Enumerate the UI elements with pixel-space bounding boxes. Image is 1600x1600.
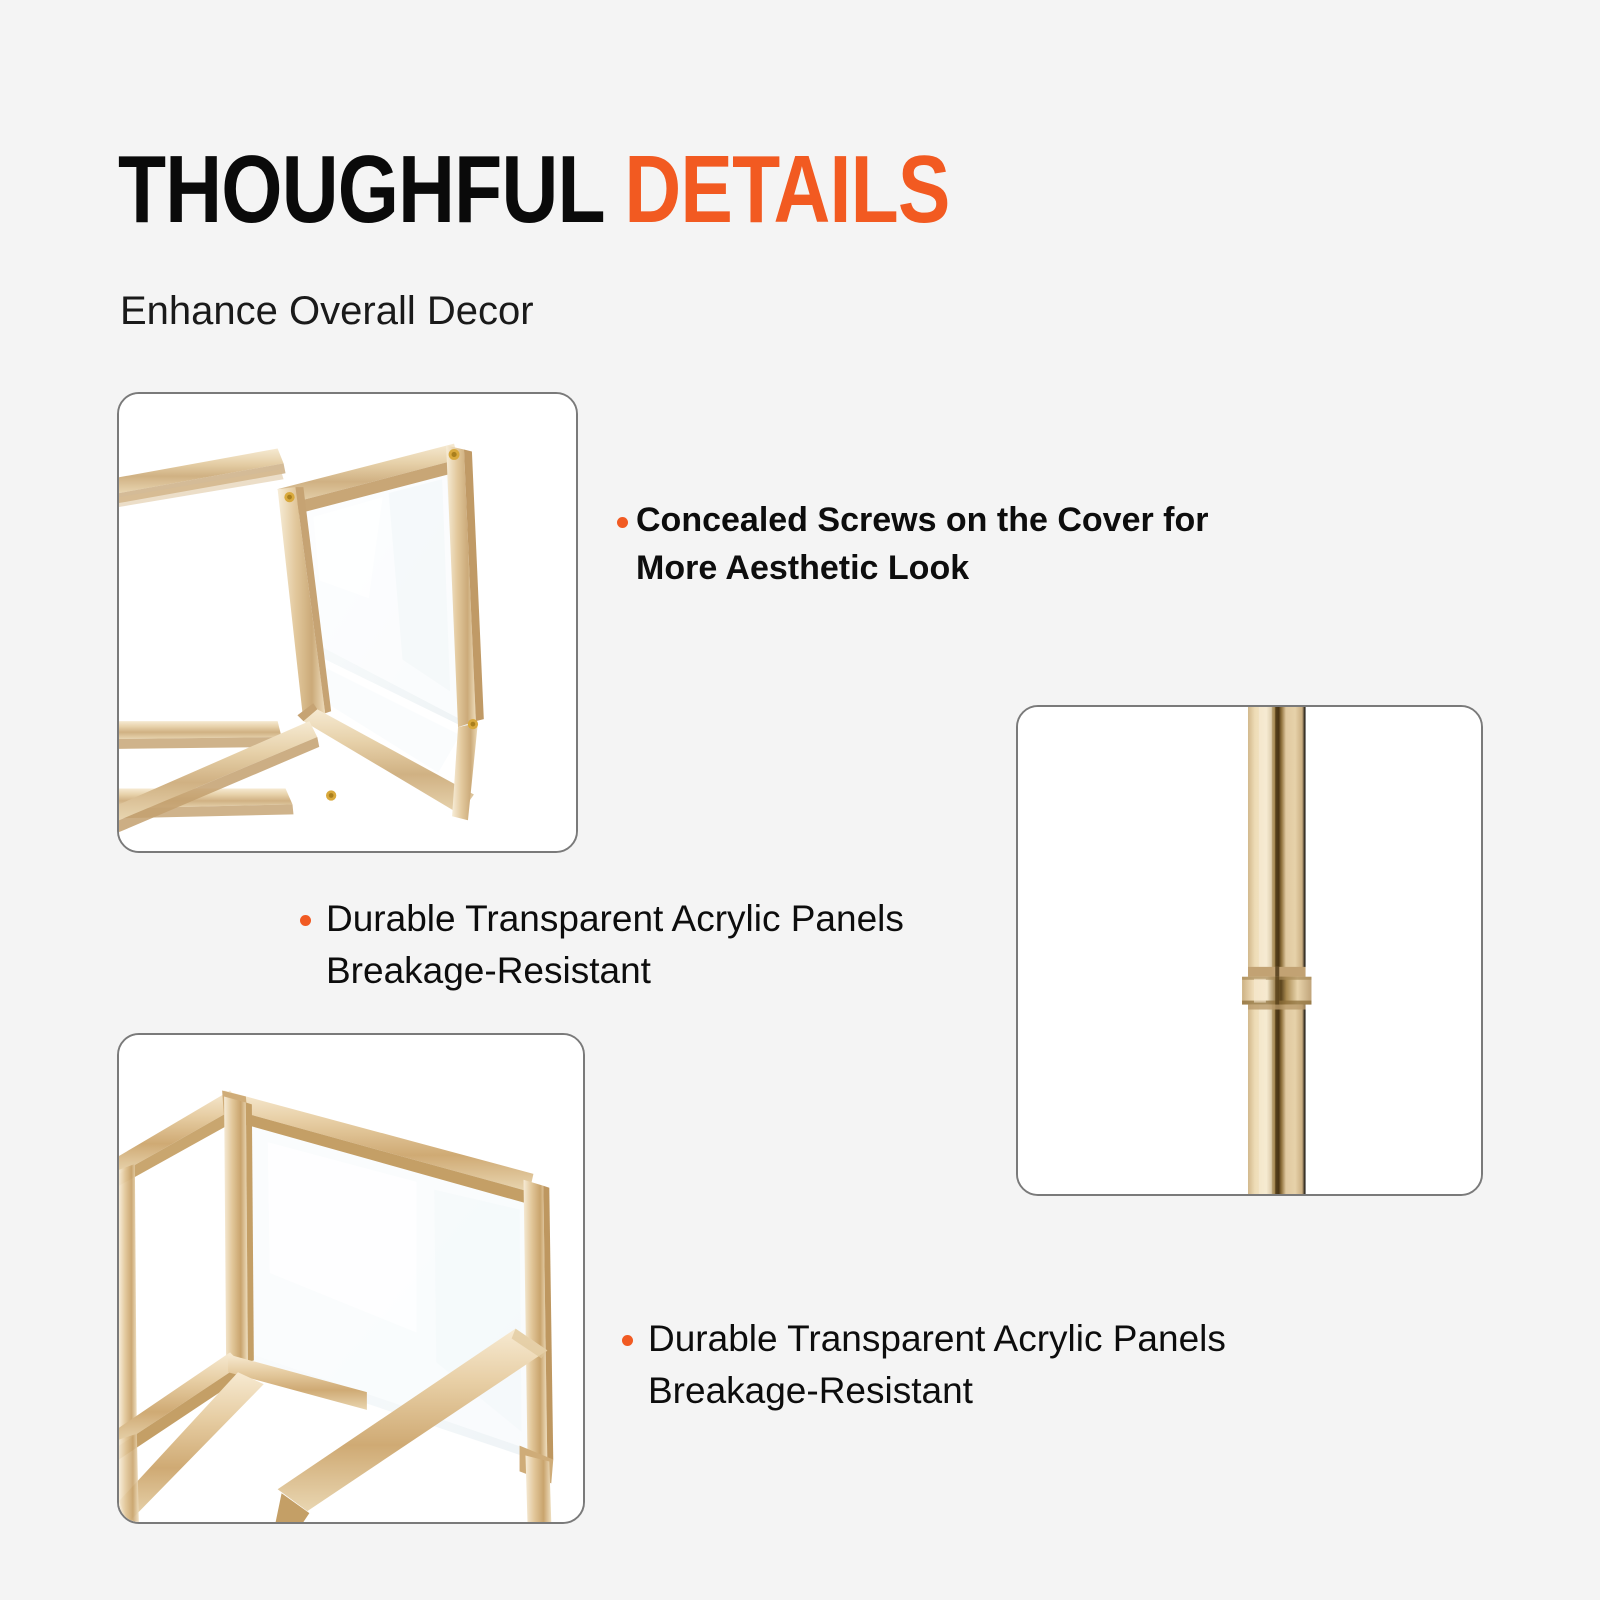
detail-page: THOUGHFUL DETAILS Enhance Overall Decor bbox=[0, 0, 1600, 1600]
feature-bullet-acrylic-panels-lower: Durable Transparent Acrylic Panels Break… bbox=[622, 1313, 1226, 1417]
page-title: THOUGHFUL DETAILS bbox=[118, 140, 950, 240]
bullet-dot-icon bbox=[622, 1335, 633, 1346]
page-subtitle: Enhance Overall Decor bbox=[120, 286, 534, 336]
gold-pole-joint-closeup bbox=[1018, 707, 1481, 1194]
gold-frame-acrylic-panel-closeup bbox=[119, 394, 576, 851]
page-title-accent: DETAILS bbox=[624, 136, 949, 243]
feature-bullet-text: Durable Transparent Acrylic Panels Break… bbox=[648, 1313, 1226, 1417]
gold-box-frame-cross-brace-closeup bbox=[119, 1035, 583, 1522]
feature-bullet-acrylic-panels-upper: Durable Transparent Acrylic Panels Break… bbox=[300, 893, 904, 997]
feature-bullet-concealed-screws: Concealed Screws on the Cover for More A… bbox=[617, 496, 1209, 592]
feature-bullet-text: Concealed Screws on the Cover for More A… bbox=[636, 496, 1209, 592]
image-card-gold-pole bbox=[1016, 705, 1483, 1196]
image-card-box-frame bbox=[117, 1033, 585, 1524]
page-title-primary: THOUGHFUL bbox=[118, 136, 624, 243]
bullet-dot-icon bbox=[300, 915, 311, 926]
bullet-dot-icon bbox=[617, 517, 628, 528]
feature-bullet-text: Durable Transparent Acrylic Panels Break… bbox=[326, 893, 904, 997]
image-card-angled-acrylic-panel bbox=[117, 392, 578, 853]
